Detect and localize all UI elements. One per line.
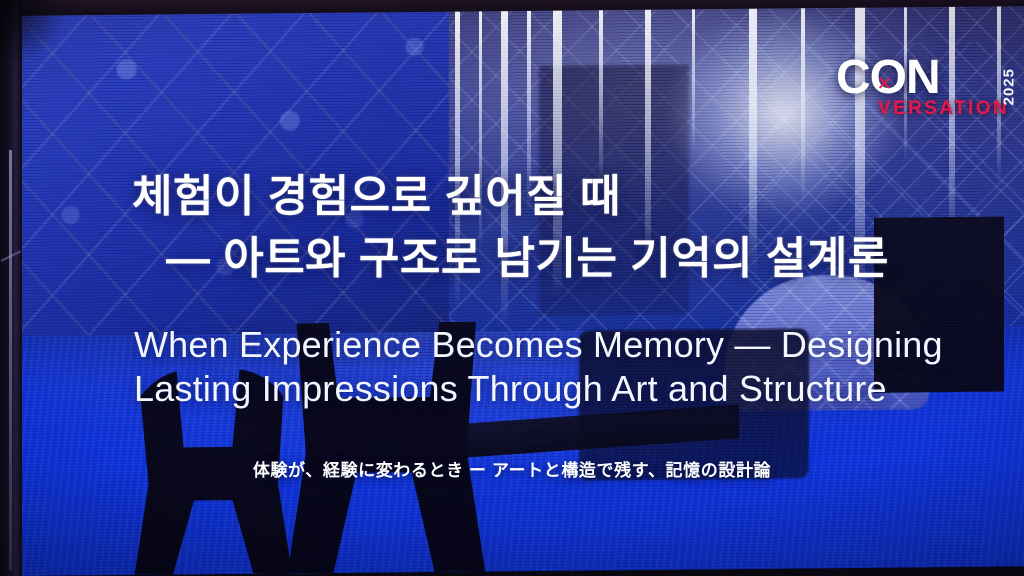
slide-content: CON ✕ VERSATION 2025 체험이 경험으로 깊어질 때 — 아트… xyxy=(0,0,1024,576)
x-icon: ✕ xyxy=(876,76,893,93)
title-korean-line1: 체험이 경험으로 깊어질 때 xyxy=(132,172,621,221)
stage-truss-left xyxy=(0,0,22,576)
corner-shadow xyxy=(0,0,70,60)
subtitle-english-line2: Lasting Impressions Through Art and Stru… xyxy=(134,368,964,410)
subtitle-english-line1: When Experience Becomes Memory — Designi… xyxy=(134,324,943,365)
page-title-korean: 체험이 경험으로 깊어질 때 — 아트와 구조로 남기는 기억의 설계론 xyxy=(132,166,962,290)
screenshot-root: CON ✕ VERSATION 2025 체험이 경험으로 깊어질 때 — 아트… xyxy=(0,0,1024,576)
logo-year: 2025 xyxy=(1000,68,1017,105)
conversation-2025-logo: CON ✕ VERSATION 2025 xyxy=(836,54,996,140)
title-korean-line2: — 아트와 구조로 남기는 기억의 설계론 xyxy=(132,228,962,290)
subtitle-japanese: 体験が、経験に変わるとき ー アートと構造で残す、記憶の設計論 xyxy=(0,456,1024,481)
logo-subword: VERSATION xyxy=(878,98,1009,120)
subtitle-english: When Experience Becomes Memory — Designi… xyxy=(134,324,964,410)
